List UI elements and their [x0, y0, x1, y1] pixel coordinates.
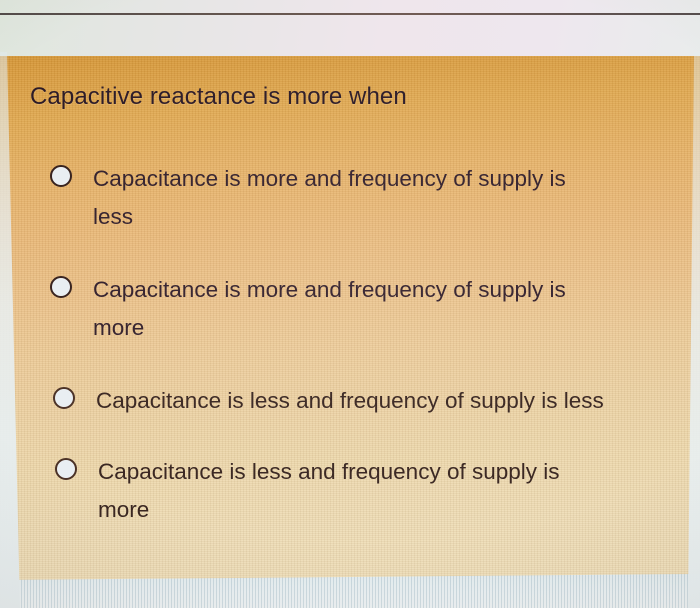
radio-button-option-2[interactable] — [50, 276, 72, 298]
radio-button-option-3[interactable] — [53, 387, 75, 409]
option-label-1: Capacitance is more and frequency of sup… — [93, 160, 566, 236]
option-line-2a: Capacitance is more and frequency of sup… — [93, 277, 566, 302]
option-line-4b: more — [98, 497, 149, 522]
radio-button-option-4[interactable] — [55, 458, 77, 480]
option-row-2[interactable]: Capacitance is more and frequency of sup… — [50, 271, 680, 347]
option-row-1[interactable]: Capacitance is more and frequency of sup… — [50, 160, 680, 236]
option-row-4[interactable]: Capacitance is less and frequency of sup… — [55, 453, 685, 529]
option-line-1a: Capacitance is more and frequency of sup… — [93, 166, 566, 191]
option-row-3[interactable]: Capacitance is less and frequency of sup… — [53, 382, 683, 420]
option-line-2b: more — [93, 315, 144, 340]
option-label-3: Capacitance is less and frequency of sup… — [96, 382, 604, 420]
option-line-4a: Capacitance is less and frequency of sup… — [98, 459, 560, 484]
radio-button-option-1[interactable] — [50, 165, 72, 187]
option-line-1b: less — [93, 204, 133, 229]
question-title: Capacitive reactance is more when — [30, 82, 407, 112]
option-line-3a: Capacitance is less and frequency of sup… — [96, 388, 604, 413]
option-label-4: Capacitance is less and frequency of sup… — [98, 453, 560, 529]
screenshot-root: Capacitive reactance is more when Capaci… — [0, 0, 700, 608]
question-content: Capacitive reactance is more when Capaci… — [0, 0, 700, 608]
option-label-2: Capacitance is more and frequency of sup… — [93, 271, 566, 347]
